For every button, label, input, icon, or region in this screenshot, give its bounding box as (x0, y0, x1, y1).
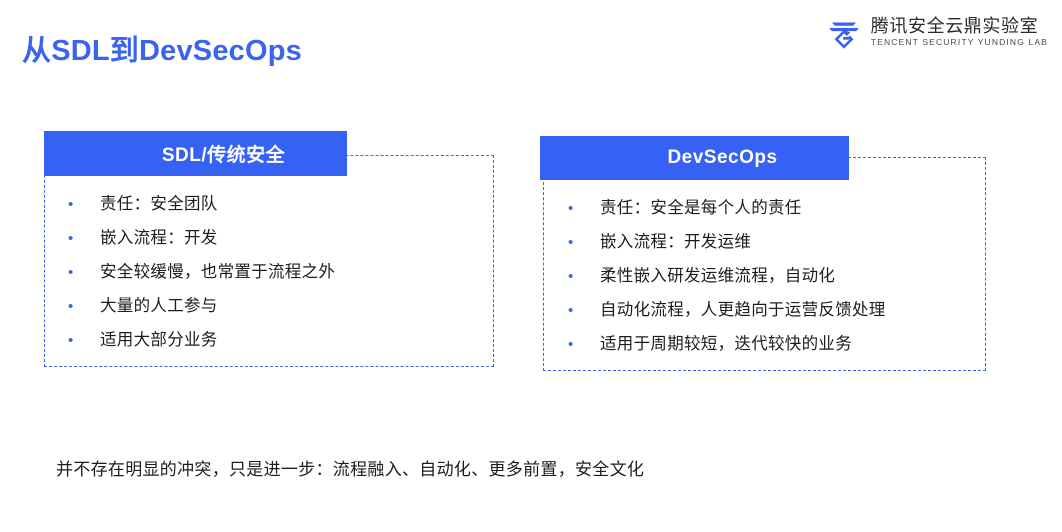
list-item-label: 大量的人工参与 (100, 292, 218, 316)
list-item-label: 责任：安全是每个人的责任 (600, 194, 802, 218)
bullet-dot-icon: • (568, 235, 600, 250)
list-item-label: 嵌入流程：开发 (100, 224, 218, 248)
list-item: • 柔性嵌入研发运维流程，自动化 (568, 262, 886, 296)
bullet-dot-icon: • (68, 265, 100, 280)
bullet-dot-icon: • (568, 269, 600, 284)
panel-sdl-header: SDL/传统安全 (44, 131, 347, 176)
panel-devsecops-bullet-list: • 责任：安全是每个人的责任 • 嵌入流程：开发运维 • 柔性嵌入研发运维流程，… (568, 194, 886, 364)
list-item: • 适用大部分业务 (68, 326, 335, 360)
panel-sdl-header-label: SDL/传统安全 (162, 140, 285, 167)
panel-sdl-bullet-list: • 责任：安全团队 • 嵌入流程：开发 • 安全较缓慢，也常置于流程之外 • 大… (68, 190, 335, 360)
panel-devsecops-header: DevSecOps (540, 136, 849, 180)
list-item: • 自动化流程，人更趋向于运营反馈处理 (568, 296, 886, 330)
yunding-shield-cloud-icon (826, 14, 862, 50)
list-item-label: 嵌入流程：开发运维 (600, 228, 751, 252)
list-item: • 安全较缓慢，也常置于流程之外 (68, 258, 335, 292)
list-item: • 适用于周期较短，迭代较快的业务 (568, 330, 886, 364)
bullet-dot-icon: • (68, 231, 100, 246)
list-item-label: 安全较缓慢，也常置于流程之外 (100, 258, 335, 282)
brand-logo-text: 腾讯安全云鼎实验室 TENCENT SECURITY YUNDING LAB (871, 17, 1048, 47)
list-item-label: 柔性嵌入研发运维流程，自动化 (600, 262, 835, 286)
bullet-dot-icon: • (568, 337, 600, 352)
slide-canvas: 从SDL到DevSecOps 腾讯安全云鼎实验室 TENCENT SECURIT… (0, 0, 1062, 532)
list-item: • 嵌入流程：开发运维 (568, 228, 886, 262)
page-title: 从SDL到DevSecOps (22, 27, 302, 69)
panel-devsecops-header-label: DevSecOps (667, 147, 777, 169)
brand-name-en: TENCENT SECURITY YUNDING LAB (871, 38, 1048, 47)
bullet-dot-icon: • (68, 333, 100, 348)
list-item: • 责任：安全团队 (68, 190, 335, 224)
bullet-dot-icon: • (68, 299, 100, 314)
footnote-text: 并不存在明显的冲突，只是进一步：流程融入、自动化、更多前置，安全文化 (56, 455, 644, 480)
list-item: • 责任：安全是每个人的责任 (568, 194, 886, 228)
list-item: • 大量的人工参与 (68, 292, 335, 326)
bullet-dot-icon: • (68, 197, 100, 212)
list-item-label: 适用于周期较短，迭代较快的业务 (600, 330, 852, 354)
list-item-label: 适用大部分业务 (100, 326, 218, 350)
brand-logo: 腾讯安全云鼎实验室 TENCENT SECURITY YUNDING LAB (826, 14, 1048, 50)
list-item-label: 责任：安全团队 (100, 190, 218, 214)
list-item-label: 自动化流程，人更趋向于运营反馈处理 (600, 296, 886, 320)
bullet-dot-icon: • (568, 201, 600, 216)
bullet-dot-icon: • (568, 303, 600, 318)
list-item: • 嵌入流程：开发 (68, 224, 335, 258)
brand-name-cn: 腾讯安全云鼎实验室 (871, 17, 1048, 35)
